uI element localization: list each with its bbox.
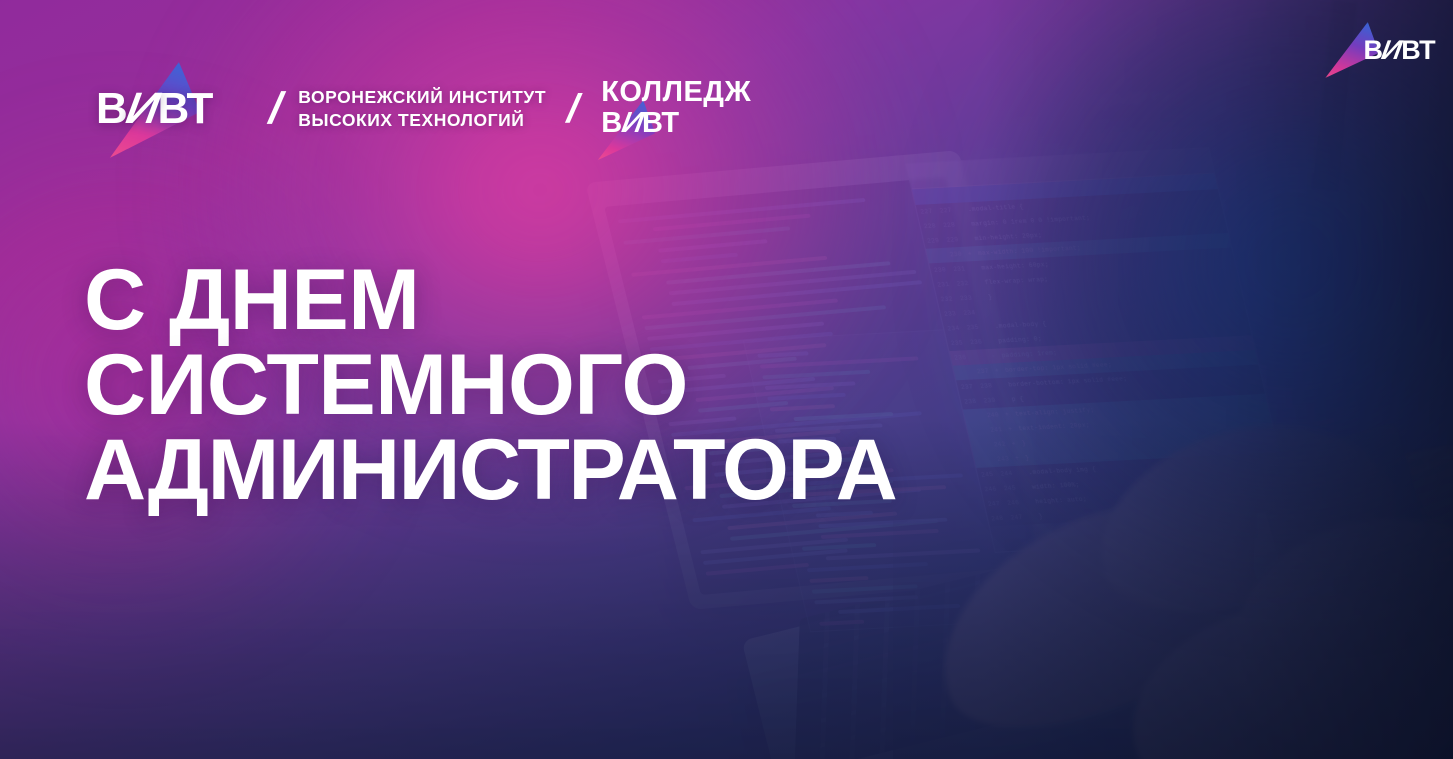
promo-banner: <p>.wrap( </ul></div> <p> ) </ul></div> … <box>0 0 1453 759</box>
logo-slash-2: / <box>560 78 587 140</box>
vivt-logo-mark[interactable]: ВИВТ <box>96 78 268 140</box>
headline-line-1: С ДНЕМ <box>84 258 896 343</box>
institute-name-line-2: ВЫСОКИХ ТЕХНОЛОГИЙ <box>298 109 546 132</box>
headline-line-2: СИСТЕМНОГО <box>84 343 896 428</box>
college-label: КОЛЛЕДЖ <box>601 78 751 108</box>
corner-vivt-logo[interactable]: ВИВТ <box>1327 28 1435 72</box>
headline: С ДНЕМ СИСТЕМНОГО АДМИНИСТРАТОРА <box>84 258 896 513</box>
vivt-wordmark: ВИВТ <box>96 78 268 140</box>
institute-name: ВОРОНЕЖСКИЙ ИНСТИТУТ ВЫСОКИХ ТЕХНОЛОГИЙ <box>298 86 546 132</box>
college-logo[interactable]: КОЛЛЕДЖ ВИВТ <box>601 78 751 139</box>
headline-line-3: АДМИНИСТРАТОРА <box>84 428 896 513</box>
college-vivt-wordmark: ВИВТ <box>601 108 751 140</box>
logo-lockup[interactable]: ВИВТ / ВОРОНЕЖСКИЙ ИНСТИТУТ ВЫСОКИХ ТЕХН… <box>96 78 751 140</box>
institute-name-line-1: ВОРОНЕЖСКИЙ ИНСТИТУТ <box>298 86 546 109</box>
corner-vivt-wordmark: ВИВТ <box>1327 28 1435 72</box>
